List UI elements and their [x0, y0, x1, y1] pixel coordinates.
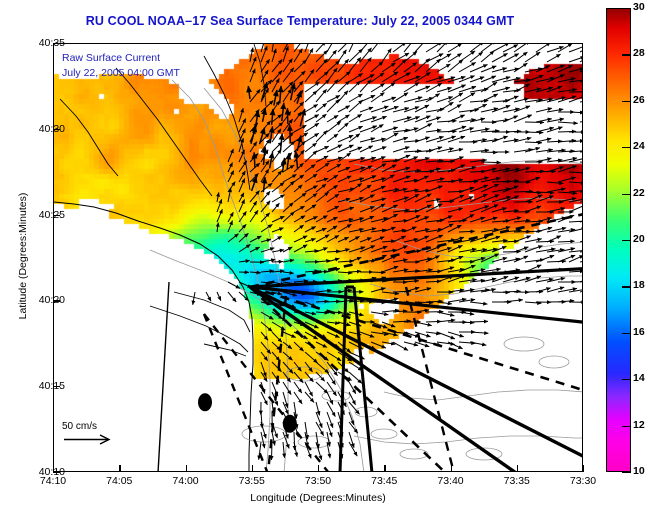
colorbar-tick-label: 26 [633, 94, 645, 106]
x-tick-mark [583, 465, 584, 472]
y-tick-mark [53, 300, 60, 301]
x-tick-mark [517, 465, 518, 472]
x-tick-mark [119, 465, 120, 472]
colorbar-tick-label: 22 [633, 187, 645, 199]
colorbar-tick-mark [622, 333, 631, 334]
y-tick-mark [53, 386, 60, 387]
annotation-line-1: Raw Surface Current [62, 51, 180, 66]
x-tick-mark [451, 465, 452, 472]
map-canvas [54, 44, 582, 471]
colorbar-tick-mark [622, 194, 631, 195]
x-tick-mark [252, 465, 253, 472]
x-tick-mark [384, 465, 385, 472]
colorbar-tick-mark [622, 101, 631, 102]
right-arrow-icon [62, 433, 118, 446]
colorbar-tick-mark [622, 8, 631, 9]
x-tick-label: 73:40 [421, 475, 481, 487]
colorbar-tick-label: 20 [633, 233, 645, 245]
x-tick-label: 74:00 [156, 475, 216, 487]
x-tick-mark [318, 465, 319, 472]
scale-legend: 50 cm/s [62, 421, 118, 449]
colorbar-tick-label: 10 [633, 465, 645, 477]
colorbar-tick-mark [622, 379, 631, 380]
x-tick-label: 74:10 [23, 475, 83, 487]
y-tick-mark [53, 215, 60, 216]
scale-legend-label: 50 cm/s [62, 421, 118, 432]
x-tick-label: 73:35 [487, 475, 547, 487]
y-tick-mark [53, 43, 60, 44]
map-plot-area[interactable]: Raw Surface Current July 22, 2005 04:00 … [53, 43, 583, 472]
x-tick-label: 74:05 [89, 475, 149, 487]
colorbar-tick-label: 30 [633, 1, 645, 13]
colorbar-tick-label: 18 [633, 279, 645, 291]
y-tick-mark [53, 129, 60, 130]
y-axis-label: Latitude (Degrees:Minutes) [17, 141, 29, 371]
colorbar-tick-mark [622, 147, 631, 148]
colorbar-tick-label: 28 [633, 47, 645, 59]
colorbar-tick-mark [622, 472, 631, 473]
figure-title: RU COOL NOAA–17 Sea Surface Temperature:… [0, 14, 600, 28]
x-tick-label: 73:45 [354, 475, 414, 487]
radar-site-marker [198, 393, 212, 411]
x-tick-label: 73:30 [553, 475, 613, 487]
annotation-line-2: July 22, 2005 04:00 GMT [62, 66, 180, 81]
x-tick-label: 73:55 [222, 475, 282, 487]
current-annotation: Raw Surface Current July 22, 2005 04:00 … [62, 51, 180, 81]
colorbar-tick-label: 24 [633, 140, 645, 152]
sst-map-figure: RU COOL NOAA–17 Sea Surface Temperature:… [0, 0, 651, 518]
colorbar-tick-label: 16 [633, 326, 645, 338]
colorbar-tick-mark [622, 54, 631, 55]
x-tick-label: 73:50 [288, 475, 348, 487]
colorbar-tick-label: 12 [633, 419, 645, 431]
x-tick-mark [186, 465, 187, 472]
y-tick-mark [53, 472, 60, 473]
colorbar-tick-mark [622, 426, 631, 427]
x-axis-label: Longitude (Degrees:Minutes) [53, 492, 583, 504]
colorbar-tick-mark [622, 286, 631, 287]
overlay-vector-layer [54, 44, 583, 472]
x-tick-mark [53, 465, 54, 472]
colorbar-tick-label: 14 [633, 372, 645, 384]
colorbar-tick-mark [622, 240, 631, 241]
